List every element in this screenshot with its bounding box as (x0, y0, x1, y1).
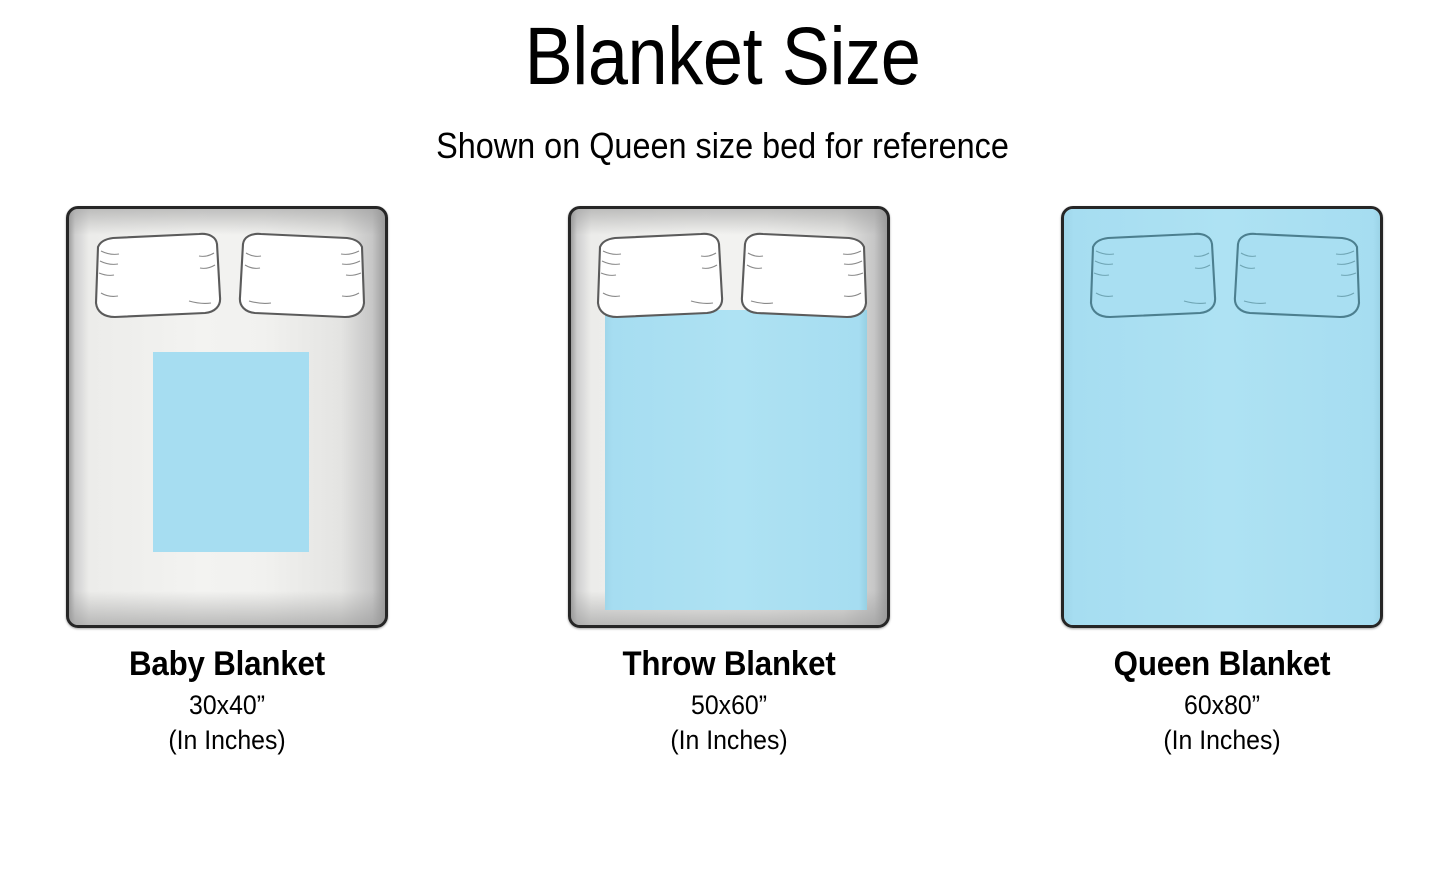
blanket-unit-label: (In Inches) (581, 724, 877, 757)
pillow-pair (69, 225, 388, 325)
pillow-icon-left (91, 229, 223, 321)
blanket-fill (605, 310, 867, 610)
blanket-name-label: Throw Blanket (581, 644, 877, 685)
bed-caption-queen: Queen Blanket 60x80” (In Inches) (1061, 644, 1383, 758)
blanket-fill (1064, 209, 1383, 628)
blanket-name-label: Queen Blanket (1074, 644, 1370, 685)
blanket-overlay-baby (153, 352, 309, 552)
bed-figure-baby (66, 206, 388, 628)
blanket-overlay-queen (1064, 209, 1383, 628)
blanket-dimensions-label: 60x80” (1074, 689, 1370, 722)
blanket-name-label: Baby Blanket (79, 644, 375, 685)
blanket-unit-label: (In Inches) (79, 724, 375, 757)
mattress-icon (66, 206, 388, 628)
bed-caption-throw: Throw Blanket 50x60” (In Inches) (568, 644, 890, 758)
mattress-top-shading (69, 209, 385, 235)
blanket-fill (153, 352, 309, 552)
pillow-icon-right (739, 229, 871, 321)
pillow-icon-left (593, 229, 725, 321)
bed-figure-queen (1061, 206, 1383, 628)
blanket-dimensions-label: 50x60” (581, 689, 877, 722)
mattress-icon (1061, 206, 1383, 628)
mattress-icon (568, 206, 890, 628)
blanket-overlay-throw (605, 310, 867, 610)
bed-caption-baby: Baby Blanket 30x40” (In Inches) (66, 644, 388, 758)
mattress-bottom-shading (69, 591, 385, 625)
bed-figure-throw (568, 206, 890, 628)
pillow-icon-right (237, 229, 369, 321)
blanket-dimensions-label: 30x40” (79, 689, 375, 722)
mattress-top-shading (571, 209, 887, 235)
blanket-unit-label: (In Inches) (1074, 724, 1370, 757)
